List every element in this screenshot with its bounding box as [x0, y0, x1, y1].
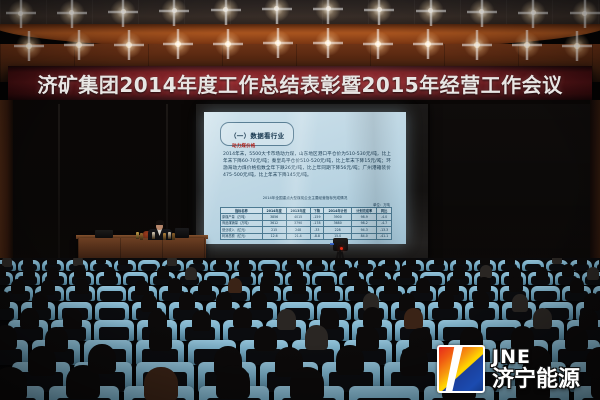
audience-member: [536, 267, 548, 280]
audience-member: [141, 294, 157, 312]
audience-member: [312, 258, 322, 266]
slide-subheading: 动力煤价格: [232, 143, 256, 149]
audience-member: [167, 258, 177, 266]
audience-member: [20, 308, 39, 329]
ceiling-lamp-icon: [479, 9, 484, 14]
slide-title: （一）数据看行业: [230, 132, 284, 140]
audience-member: [587, 267, 599, 280]
audience-member: [168, 278, 182, 293]
water-bottle: [172, 233, 175, 240]
audience-member: [373, 266, 385, 279]
audience-member: [96, 258, 106, 264]
audience-member: [400, 265, 412, 278]
audience-member: [305, 325, 328, 350]
audience-member: [404, 308, 423, 329]
slide-paragraph: 2014年末，5500大卡市场动力煤，山东地区港口平仓价为510-530元/吨，…: [223, 151, 391, 179]
banner-text: 济矿集团2014年度工作总结表彰暨2015年经营工作会议: [37, 69, 562, 98]
audience-member: [135, 280, 149, 295]
audience-member: [23, 267, 35, 280]
audience-member: [584, 293, 600, 311]
audience-member: [193, 258, 203, 264]
water-bottle: [163, 233, 166, 240]
audience-member: [509, 277, 523, 292]
audience-member: [562, 264, 574, 277]
ceiling-lamp-icon: [126, 42, 132, 48]
ceiling-lamp-icon: [275, 40, 281, 46]
conference-photo: 济矿集团2014年度工作总结表彰暨2015年经营工作会议 （一）数据看行业 动力…: [0, 0, 600, 400]
presentation-slide: （一）数据看行业 动力煤价格 2014年末，5500大卡市场动力煤，山东地区港口…: [204, 112, 406, 244]
audience-member: [254, 326, 277, 351]
audience-member: [335, 258, 345, 266]
audience-member: [505, 258, 515, 265]
table-cell: 利润总额（亿元）: [221, 233, 263, 239]
audience-member: [512, 294, 528, 312]
ceiling-lamp-icon: [26, 43, 32, 49]
slide-table-caption: 2014年全国重点大型煤炭企业主要经营指标完成情况: [204, 196, 406, 201]
ceiling-lamp-icon: [524, 42, 530, 48]
audience-member: [251, 292, 267, 310]
audience-member: [233, 307, 252, 328]
ceiling-lamp-icon: [582, 11, 587, 16]
wall-column-left: [0, 100, 13, 275]
auditorium-seat: [95, 302, 129, 320]
ceiling-lamp-icon: [69, 10, 74, 15]
logo-text-block: JNE 济宁能源: [492, 348, 580, 391]
audience-member: [321, 278, 335, 293]
audience-member: [416, 278, 430, 293]
camera-blue-light: [330, 243, 334, 245]
audience-member: [0, 325, 17, 350]
ceiling-lamp-icon: [274, 6, 279, 11]
ceiling-lamp-icon: [18, 11, 23, 16]
table-cell: 84.0: [352, 233, 377, 239]
table-cell: 21.4: [286, 233, 310, 239]
audience-member: [456, 258, 466, 265]
audience-member: [118, 258, 128, 265]
table-body: 原煤产量（万吨）38564015-159390098.9-4.0商品煤销量（万吨…: [221, 214, 392, 240]
wall-seam: [58, 104, 60, 272]
audience-member: [477, 277, 491, 292]
desk-monitor: [175, 228, 189, 238]
auditorium-seat: [349, 386, 419, 400]
audience-member: [66, 365, 100, 399]
audience-member: [239, 264, 251, 277]
audience-member: [480, 265, 492, 278]
audience-member: [144, 367, 178, 400]
audience-member: [570, 278, 584, 293]
audience-member: [179, 292, 195, 310]
audience-member: [28, 346, 56, 376]
ceiling-lamp-icon: [325, 40, 331, 46]
audience-member: [291, 266, 303, 279]
ceiling-lamp-icon: [225, 41, 231, 47]
ceiling-lamp-icon: [474, 42, 480, 48]
ceiling-lamp-icon: [172, 8, 177, 13]
audience-member: [354, 279, 368, 294]
conference-banner: 济矿集团2014年度工作总结表彰暨2015年经营工作会议: [8, 66, 592, 100]
table-cell: -41.1: [377, 233, 392, 239]
water-bottle: [152, 232, 155, 239]
table-row: 利润总额（亿元）12.621.4-8.815.084.0-41.1: [221, 233, 392, 239]
table-cell: 12.6: [262, 233, 286, 239]
ceiling-lamp-icon: [121, 9, 126, 14]
audience-member: [11, 279, 25, 294]
audience-member: [287, 258, 297, 265]
audience-member: [577, 258, 587, 265]
ceiling-lamp-icon: [377, 7, 382, 12]
ceiling-lamp-icon: [223, 7, 228, 12]
audience-member: [23, 258, 33, 267]
audience-member: [74, 265, 86, 278]
audience-member: [552, 258, 562, 264]
audience-member: [75, 279, 89, 294]
audience-member: [400, 346, 428, 376]
audience-member: [363, 307, 382, 328]
water-bottle: [168, 232, 171, 239]
auditorium-seat: [97, 286, 126, 301]
wall-panel: [430, 104, 500, 272]
audience-member: [434, 258, 444, 265]
audience-member: [480, 258, 490, 265]
speaker-hair: [156, 220, 164, 225]
table-cell: -8.8: [310, 233, 323, 239]
audience-member: [533, 308, 552, 329]
audience-member: [216, 292, 232, 310]
ceiling-lamp-icon: [425, 41, 431, 47]
ceiling-lamp-icon: [326, 6, 331, 11]
ceiling-lamp-icon: [574, 43, 580, 49]
water-bottle: [140, 233, 143, 240]
water-bottle: [136, 232, 139, 239]
audience-member: [320, 308, 339, 329]
jne-logo-mark-icon: [437, 345, 485, 393]
audience-member: [384, 279, 398, 294]
audience-member: [0, 367, 27, 400]
ceiling-lamp-icon: [428, 8, 433, 13]
slide-data-table: 指标名称2014年度2013年度下降2014年计划计划完成率同比 原煤产量（万吨…: [220, 207, 392, 240]
auditorium-seat: [531, 286, 560, 301]
audience-member: [216, 365, 250, 399]
audience-member: [228, 278, 242, 293]
wall-panel: [500, 104, 590, 272]
audience-member: [216, 258, 226, 265]
ceiling-lamp-icon: [175, 41, 181, 47]
audience-member: [260, 278, 274, 293]
audience-member: [358, 258, 368, 265]
audience-member: [63, 308, 82, 329]
wall-column-right: [590, 100, 600, 275]
audience-member: [104, 267, 116, 280]
audience-member: [347, 267, 359, 280]
audience-member: [47, 258, 57, 265]
audience-member: [438, 291, 454, 309]
logo-company-name: 济宁能源: [492, 369, 580, 391]
audience-member: [47, 267, 59, 280]
ceiling-lamp-icon: [531, 10, 536, 15]
audience-member: [198, 280, 212, 295]
audience-member: [290, 367, 324, 400]
audience-member: [453, 266, 465, 279]
audience-member: [473, 291, 489, 309]
ceiling-lamp-icon: [76, 42, 82, 48]
logo-abbreviation: JNE: [492, 348, 580, 367]
audience-member: [157, 266, 169, 279]
audience-member: [192, 310, 211, 331]
audience-member: [32, 292, 48, 310]
audience-member: [385, 258, 395, 266]
audience-member: [292, 279, 306, 294]
projection-screen: （一）数据看行业 动力煤价格 2014年末，5500大卡市场动力煤，山东地区港口…: [196, 104, 428, 262]
audience-member: [277, 309, 296, 330]
audience-member: [0, 291, 10, 309]
audience-member: [185, 267, 197, 280]
audience-member: [149, 326, 172, 351]
audience-member: [336, 345, 364, 375]
watermark-logo: JNE 济宁能源: [437, 341, 595, 397]
ceiling-lamp-icon: [375, 41, 381, 47]
desk-equipment: [95, 230, 113, 238]
auditorium-seat: [94, 320, 134, 341]
